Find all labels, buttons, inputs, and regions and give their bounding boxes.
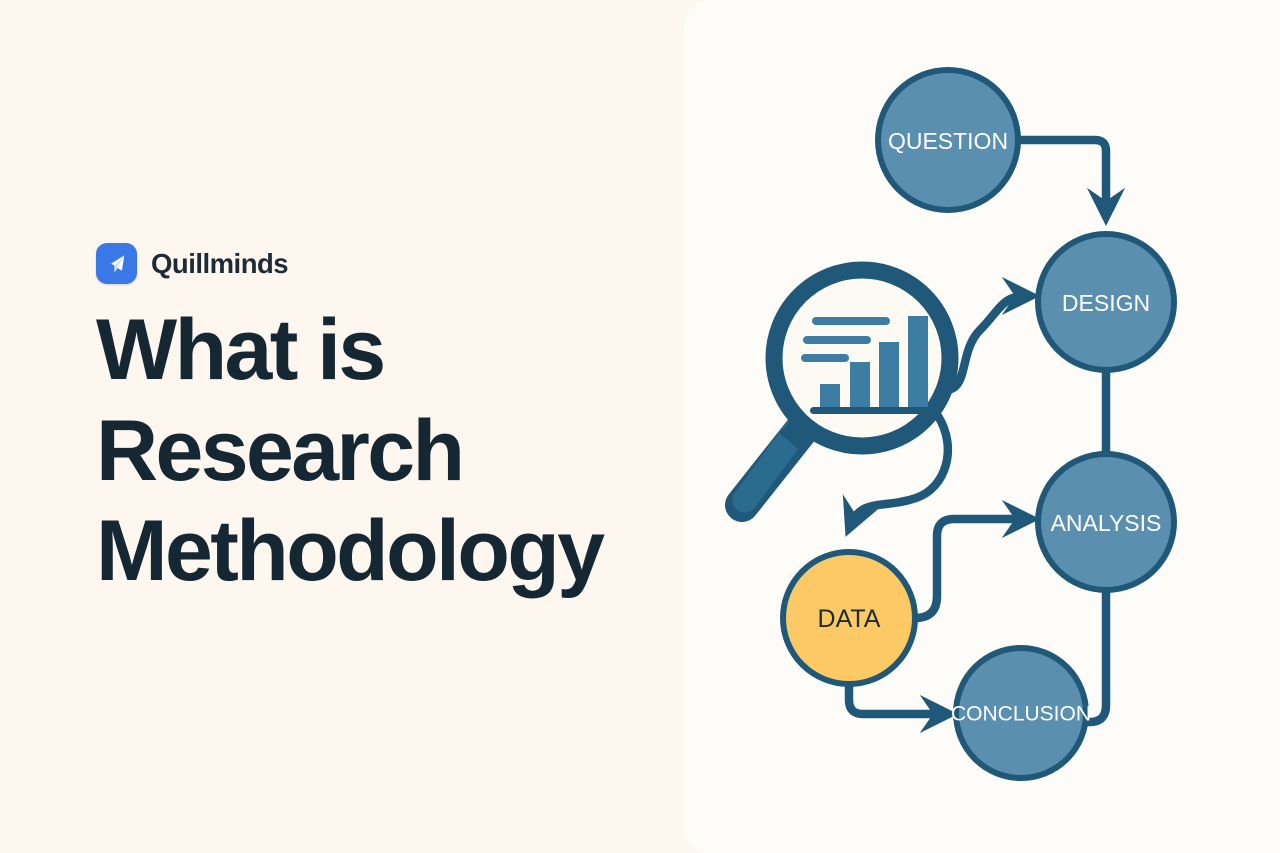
connector-data-to-conclusion bbox=[849, 684, 944, 714]
node-conclusion-label: CONCLUSION bbox=[951, 703, 1091, 726]
chart-text-line-3 bbox=[801, 354, 849, 362]
node-data-label: DATA bbox=[818, 605, 881, 633]
left-content-column: Quillminds What is Research Methodology bbox=[96, 0, 676, 853]
node-analysis-label: ANALYSIS bbox=[1051, 510, 1162, 536]
page-title: What is Research Methodology bbox=[96, 300, 696, 602]
chart-baseline bbox=[810, 407, 932, 414]
chart-text-line-2 bbox=[803, 336, 871, 344]
chart-bar-2 bbox=[850, 362, 870, 408]
slide-canvas: Quillminds What is Research Methodology bbox=[0, 0, 1280, 853]
connector-question-to-design bbox=[1018, 140, 1106, 212]
magnifying-glass-with-bar-chart-icon bbox=[742, 270, 950, 505]
node-design[interactable]: DESIGN bbox=[1038, 234, 1174, 370]
chart-bar-4 bbox=[908, 316, 928, 408]
node-analysis[interactable]: ANALYSIS bbox=[1038, 454, 1174, 590]
brand-name: Quillminds bbox=[151, 248, 288, 280]
chart-bar-1 bbox=[820, 384, 840, 408]
node-conclusion[interactable]: CONCLUSION bbox=[951, 648, 1091, 778]
chart-text-line-1 bbox=[812, 317, 890, 325]
connector-data-to-analysis bbox=[915, 519, 1026, 618]
node-question-label: QUESTION bbox=[888, 128, 1008, 154]
brand-lockup[interactable]: Quillminds bbox=[96, 243, 288, 284]
research-methodology-flow-diagram: QUESTION DESIGN ANALYSIS DATA CONCLUSION bbox=[684, 0, 1280, 853]
node-question[interactable]: QUESTION bbox=[878, 70, 1018, 210]
node-design-label: DESIGN bbox=[1062, 290, 1150, 316]
paper-plane-logo-icon bbox=[96, 243, 137, 284]
chart-bar-3 bbox=[879, 342, 899, 408]
node-data[interactable]: DATA bbox=[783, 552, 915, 684]
